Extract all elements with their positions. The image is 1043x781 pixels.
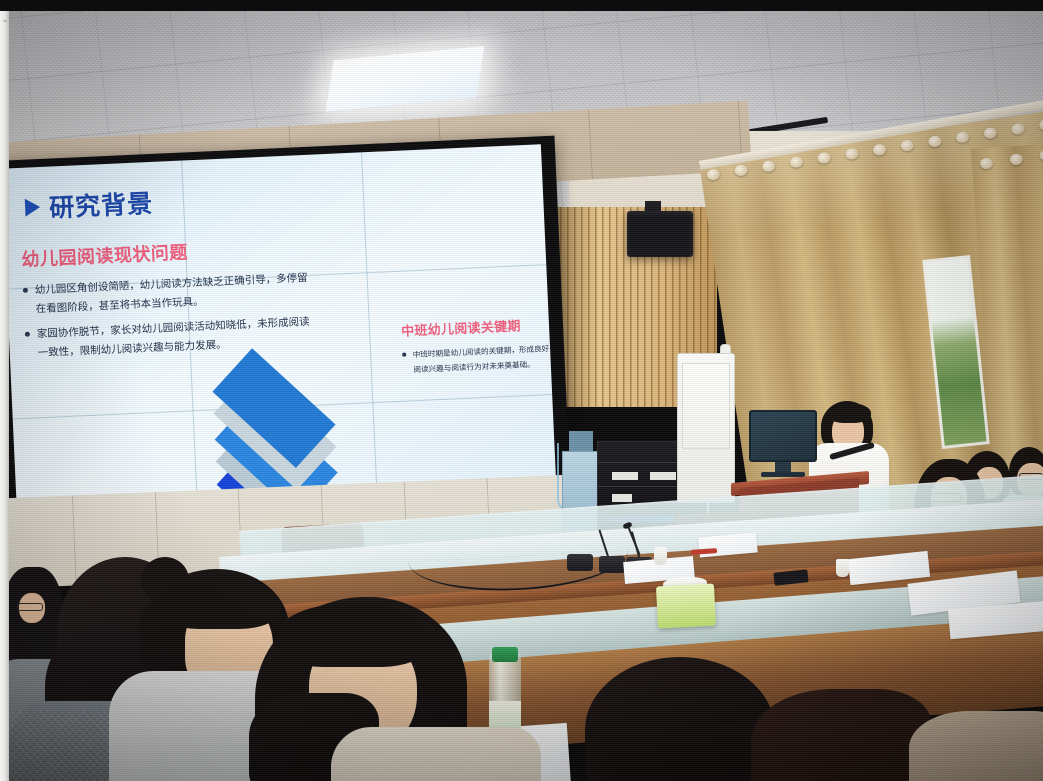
audience-fringe (159, 577, 279, 629)
curtain-grommets (972, 149, 1043, 171)
triangle-bullet-icon (25, 198, 41, 217)
audience-hair (605, 723, 765, 781)
presenter-fringe (827, 403, 871, 423)
bullet-text: 幼儿园区角创设简陋，幼儿阅读方法缺乏正确引导，多停留在看图阶段，甚至将书本当作玩… (34, 269, 313, 319)
slide-title-text: 研究背景 (48, 184, 154, 225)
cabinet-panel (682, 363, 730, 449)
paper-cup (836, 559, 849, 577)
slide-title: 研究背景 (24, 184, 154, 226)
chevron-down-icon[interactable]: ⌄ (1, 14, 9, 24)
audience-head (751, 689, 931, 781)
bottle-cap-icon (492, 647, 518, 662)
equipment-box (569, 431, 593, 453)
paper-cup (654, 547, 667, 565)
slide-heading-left: 幼儿园阅读现状问题 (21, 238, 189, 272)
viewer-left-strip (0, 11, 9, 781)
stacked-diamond-graphic (215, 347, 391, 495)
slide-surface: 研究背景 幼儿园阅读现状问题 幼儿园区角创设简陋，幼儿阅读方法缺乏正确引导，多停… (9, 144, 556, 504)
photo-scene: 研究背景 幼儿园阅读现状问题 幼儿园区角创设简陋，幼儿阅读方法缺乏正确引导，多停… (9, 11, 1043, 781)
diamond-layer (215, 347, 377, 410)
conference-microphone[interactable] (599, 556, 625, 573)
screenshot-root: ⌄ (0, 0, 1043, 781)
bullet-item: 中班时期是幼儿阅读的关键期，形成良好阅读兴趣与阅读行为对未来奠基础。 (402, 342, 555, 378)
video-wall[interactable]: 研究背景 幼儿园阅读现状问题 幼儿园区角创设简陋，幼儿阅读方法缺乏正确引导，多停… (9, 136, 571, 516)
slide-column-right: 中班幼儿阅读关键期 中班时期是幼儿阅读的关键期，形成良好阅读兴趣与阅读行为对未来… (401, 314, 556, 385)
bullet-item: 幼儿园区角创设简陋，幼儿阅读方法缺乏正确引导，多停留在看图阶段，甚至将书本当作玩… (23, 269, 314, 319)
viewer-top-bar (0, 0, 1043, 11)
tissue-box (656, 584, 716, 629)
wall-speaker-icon (627, 211, 693, 257)
bullet-text: 中班时期是幼儿阅读的关键期，形成良好阅读兴趣与阅读行为对未来奠基础。 (412, 342, 555, 378)
slide-heading-right: 中班幼儿阅读关键期 (401, 314, 554, 340)
bullet-dot-icon (25, 332, 30, 337)
audience-body (331, 727, 541, 781)
bullet-dot-icon (402, 353, 406, 357)
audience-body (909, 711, 1043, 781)
glasses-icon (17, 603, 43, 611)
audience-fringe (277, 603, 427, 667)
podium-monitor (749, 410, 817, 462)
conference-microphone[interactable] (567, 554, 593, 571)
bullet-dot-icon (23, 288, 28, 293)
